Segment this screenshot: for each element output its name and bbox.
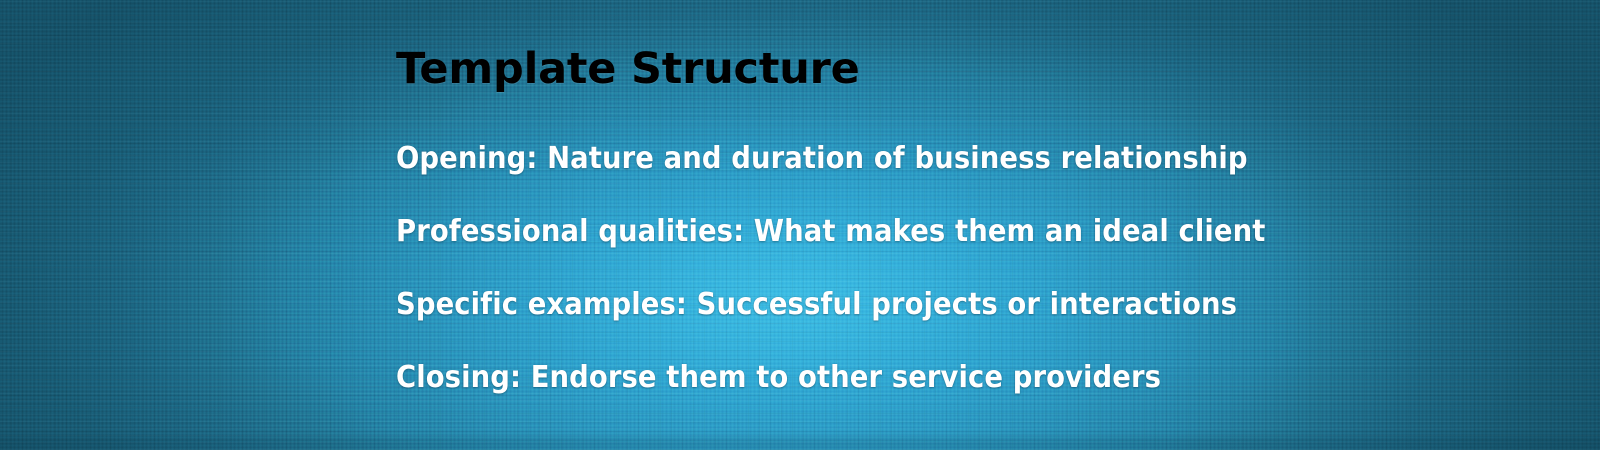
list-item: Closing: Endorse them to other service p… (396, 358, 1265, 431)
presentation-slide: Template Structure Opening: Nature and d… (0, 0, 1600, 450)
list-item: Specific examples: Successful projects o… (396, 285, 1265, 358)
slide-content: Template Structure Opening: Nature and d… (0, 0, 1600, 450)
bullet-list: Opening: Nature and duration of business… (396, 139, 1346, 431)
list-item: Opening: Nature and duration of business… (396, 139, 1265, 212)
list-item: Professional qualities: What makes them … (396, 212, 1265, 285)
page-title: Template Structure (396, 44, 860, 94)
